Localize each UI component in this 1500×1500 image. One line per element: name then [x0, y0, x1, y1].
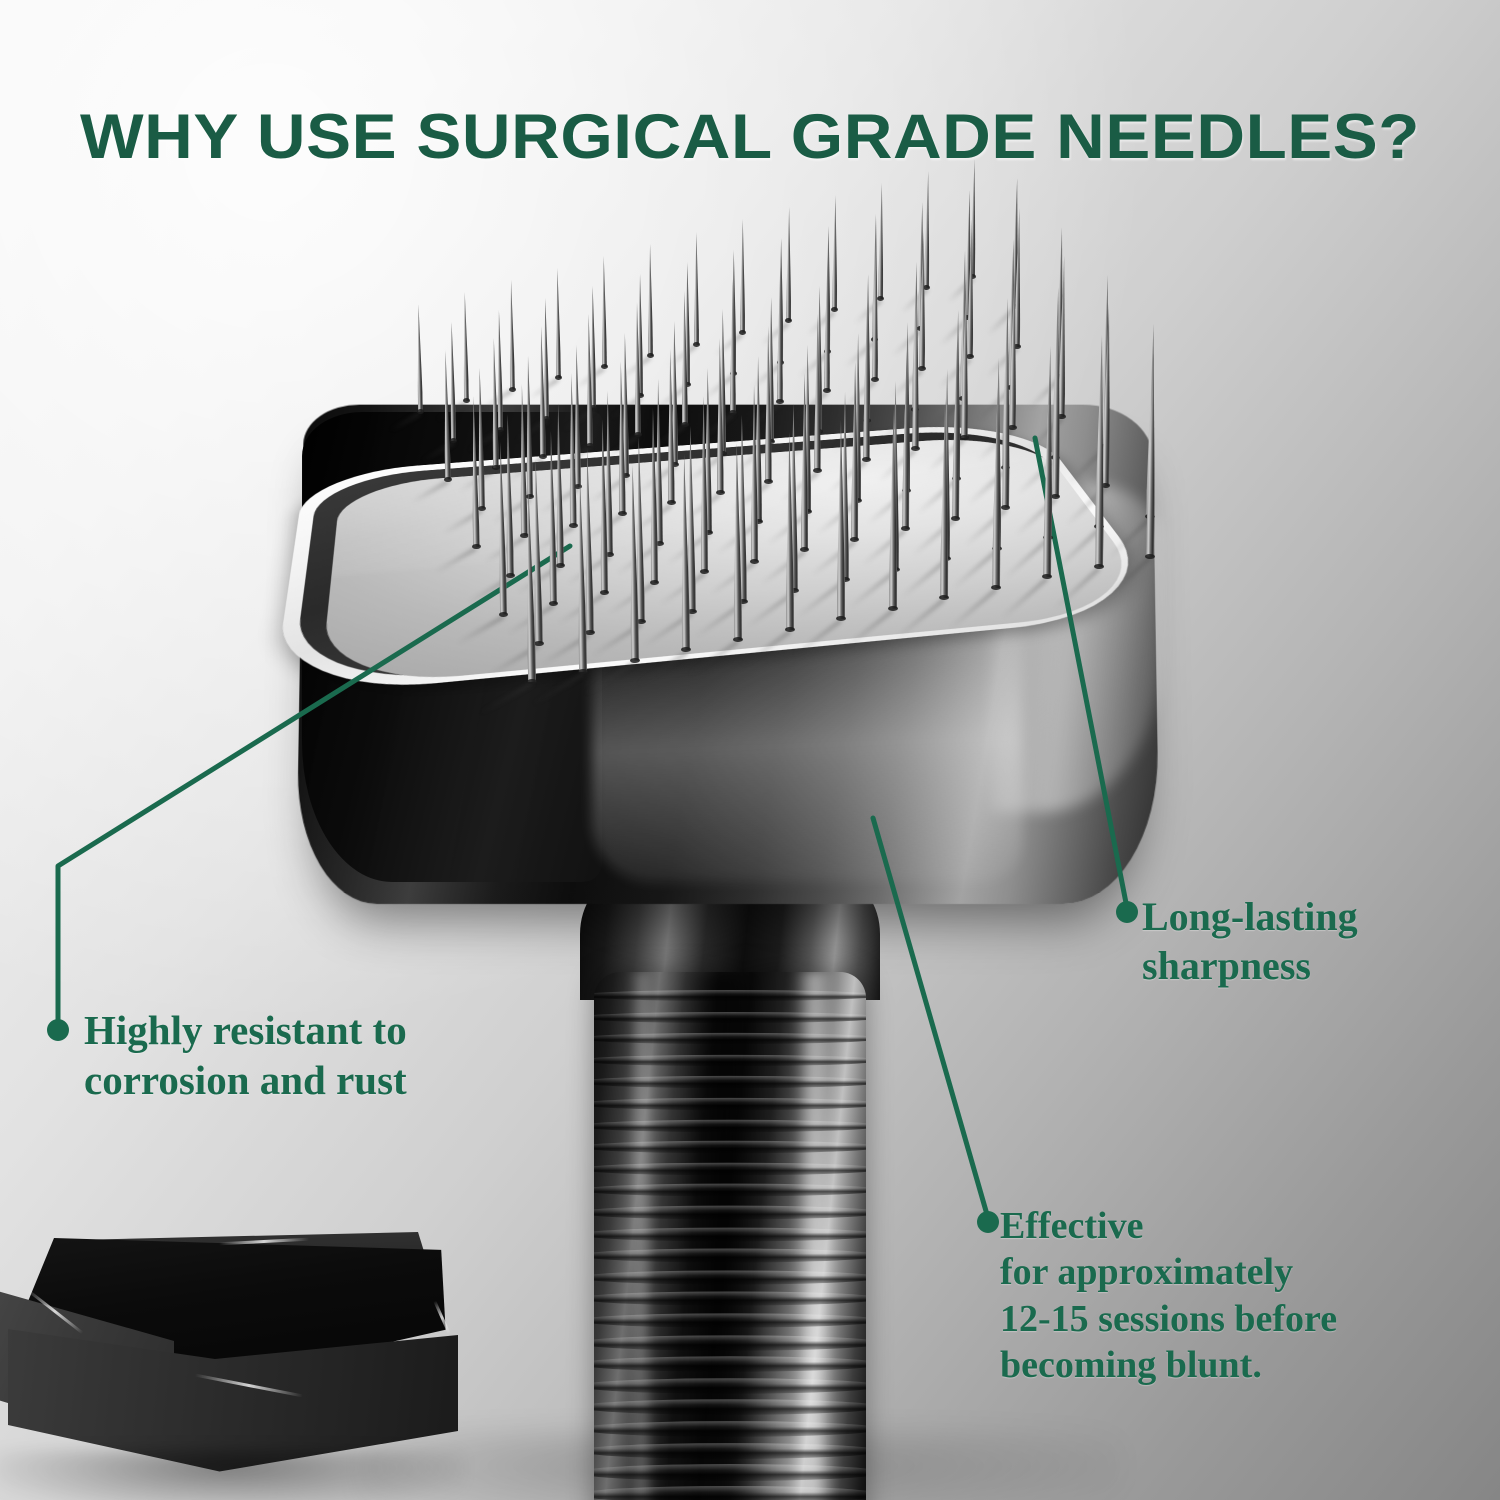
needle-shaft: [508, 280, 514, 390]
needle: [940, 398, 949, 598]
needle-shaft: [851, 362, 859, 540]
needle-base: [416, 409, 423, 414]
needle-base: [578, 668, 588, 673]
callout-text-effective: Effective for approximately 12-15 sessio…: [1000, 1203, 1337, 1388]
needle: [952, 339, 961, 519]
needle: [961, 279, 969, 438]
needle-base: [444, 476, 452, 481]
needle-base: [888, 606, 898, 611]
needle-base: [776, 399, 784, 404]
needle: [814, 314, 821, 471]
needle-base: [862, 457, 871, 462]
needle-shaft: [694, 232, 699, 345]
needle-base: [700, 569, 709, 574]
needle: [649, 408, 658, 583]
needle: [667, 349, 675, 503]
needle: [863, 303, 870, 460]
callout-text-corrosion: Highly resistant to corrosion and rust: [84, 1005, 407, 1105]
callout-dot-sharpness: [1116, 901, 1138, 923]
needle-base: [693, 341, 700, 346]
needle-base: [1001, 505, 1010, 510]
needle-base: [555, 375, 562, 380]
needle-shaft: [682, 291, 688, 425]
needle: [889, 409, 898, 609]
needle: [851, 362, 859, 540]
needle-base: [813, 468, 822, 473]
needle-shaft: [667, 349, 675, 503]
needle-shaft: [912, 291, 920, 449]
callout-dot-corrosion: [47, 1019, 69, 1041]
needle-shaft: [786, 207, 792, 321]
needle-shaft: [863, 303, 870, 460]
needle-shaft: [716, 338, 723, 493]
needle: [992, 387, 1002, 588]
needle: [777, 267, 783, 402]
needle-shaft: [889, 409, 898, 609]
page-title: WHY USE SURGICAL GRADE NEEDLES?: [0, 104, 1500, 170]
needle: [601, 256, 607, 367]
needle: [785, 432, 794, 630]
needle-base: [729, 410, 737, 415]
needle: [634, 302, 641, 435]
needle-shaft: [832, 195, 838, 310]
needle: [730, 279, 736, 413]
leader-line-effective: [873, 818, 988, 1218]
needle-shaft: [740, 219, 745, 333]
needle: [765, 326, 772, 482]
needle-shaft: [700, 396, 709, 572]
needle-shaft: [730, 279, 736, 413]
needle-base: [871, 377, 879, 382]
needle-base: [911, 446, 920, 451]
needle-base: [716, 490, 725, 495]
needle-shaft: [647, 244, 652, 356]
needle-shaft: [765, 326, 772, 482]
needle: [801, 373, 809, 550]
needle-base: [739, 330, 746, 335]
needle-base: [478, 506, 486, 511]
needle: [733, 443, 743, 640]
needle: [555, 268, 561, 378]
needle-base: [1094, 564, 1104, 569]
needle-shaft: [649, 408, 658, 583]
needle-shaft: [952, 339, 961, 519]
needle-base: [601, 364, 608, 369]
needle: [700, 396, 709, 572]
leader-line-corrosion: [58, 546, 570, 1026]
needle-shaft: [837, 420, 845, 619]
needle-base: [764, 479, 773, 484]
needle-base: [509, 386, 516, 391]
needle-base: [556, 562, 565, 567]
needle-base: [1145, 553, 1155, 558]
needle-shaft: [733, 443, 743, 640]
needle-shaft: [601, 256, 607, 367]
needle: [902, 350, 910, 529]
needle-shaft: [814, 314, 821, 471]
needle-shaft: [902, 350, 910, 529]
needle: [682, 291, 688, 425]
needle-shaft: [940, 398, 949, 598]
needle: [750, 385, 758, 562]
needle: [786, 207, 792, 321]
needle-shaft: [785, 432, 794, 630]
needle-base: [499, 611, 508, 616]
needle-shaft: [777, 267, 783, 402]
needle: [832, 195, 838, 310]
needle-base: [918, 366, 926, 371]
needle-shaft: [750, 385, 758, 562]
needle: [647, 244, 652, 356]
needle-base: [650, 579, 659, 584]
needle-base: [951, 515, 960, 520]
needle-base: [534, 641, 544, 646]
infographic-canvas: WHY USE SURGICAL GRADE NEEDLES? Highly r…: [0, 0, 1500, 1500]
needle: [508, 280, 514, 390]
needle-shaft: [992, 387, 1002, 588]
needle: [694, 232, 699, 345]
needle-base: [991, 585, 1001, 590]
needle-base: [462, 398, 469, 403]
needle-shaft: [555, 268, 561, 378]
needle: [912, 291, 920, 449]
needle-shaft: [801, 373, 809, 550]
needle-base: [647, 353, 654, 358]
callout-text-sharpness: Long-lasting sharpness: [1142, 893, 1358, 991]
callout-dot-effective: [977, 1211, 999, 1233]
needle: [837, 420, 845, 619]
needle-shaft: [872, 243, 879, 380]
needle-shaft: [961, 279, 969, 438]
needle-base: [472, 544, 481, 549]
needle: [716, 338, 723, 493]
needle-shaft: [634, 302, 641, 435]
needle: [740, 219, 745, 333]
needle: [872, 243, 879, 380]
needle-base: [785, 627, 795, 632]
